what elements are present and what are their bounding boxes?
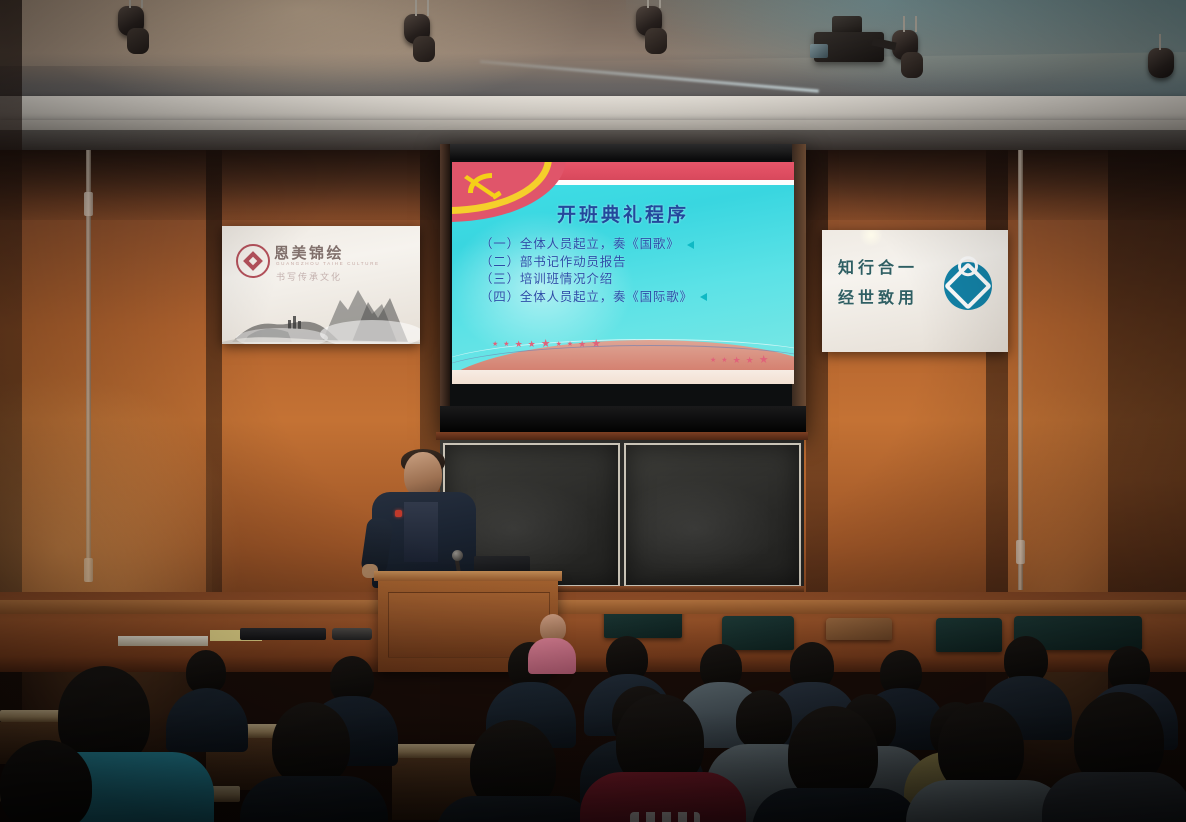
slide-item-index: （三） xyxy=(480,272,520,286)
presenter-shirt xyxy=(404,502,438,562)
audience xyxy=(0,636,1186,822)
speaker-icon xyxy=(687,241,694,249)
banner-subheading-en: GUANGZHOU TAIHE CULTURE xyxy=(276,261,380,266)
stage-rail xyxy=(0,600,1186,614)
screen-top-bar xyxy=(440,144,806,160)
slide-item-index: （一） xyxy=(480,237,520,251)
institution-logo-icon xyxy=(944,262,992,310)
ceiling-projector xyxy=(806,22,898,68)
slide-list-item: （二）部书记作动员报告 xyxy=(480,254,780,272)
shirt-graphic xyxy=(630,812,700,822)
speaker-icon xyxy=(700,293,707,301)
audience-torso-front xyxy=(1042,772,1186,822)
presenter-badge xyxy=(395,510,402,517)
ink-landscape-banner: 恩美锦绘 GUANGZHOU TAIHE CULTURE 书写传承文化 xyxy=(222,226,420,344)
motto-line-1: 知行合一 xyxy=(838,254,918,284)
microphone-head xyxy=(452,550,463,561)
slide-list-item: （四）全体人员起立，奏《国际歌》 xyxy=(480,289,780,307)
slide-bottom-band xyxy=(452,370,794,384)
hammer-and-sickle-emblem xyxy=(462,166,504,200)
slide-item-text: 培训班情况介绍 xyxy=(520,272,613,286)
track-spotlight xyxy=(1148,48,1174,78)
seated-person-torso xyxy=(528,638,576,674)
track-spotlight xyxy=(404,14,435,62)
motto-line-2: 经世致用 xyxy=(838,284,918,314)
slide-star-row: ★★★★★★★★★ xyxy=(492,341,601,348)
screen-left-edge xyxy=(440,144,450,434)
motto-text: 知行合一 经世致用 xyxy=(838,254,918,314)
slide-item-text: 部书记作动员报告 xyxy=(520,255,626,269)
screen-bottom-shadow xyxy=(440,406,806,434)
blackboard-top-ledge xyxy=(436,432,808,440)
slide-item-index: （四） xyxy=(480,290,520,304)
audience-torso-front xyxy=(240,776,388,822)
red-seal-icon xyxy=(236,244,270,278)
wall-metal-strip xyxy=(86,150,91,570)
audience-head xyxy=(736,690,792,750)
track-spotlight xyxy=(118,6,149,54)
slide-list-item: （三）培训班情况介绍 xyxy=(480,271,780,289)
audience-torso xyxy=(166,688,248,752)
presentation-slide: 开班典礼程序 （一）全体人员起立，奏《国歌》 （二）部书记作动员报告 （三）培训… xyxy=(452,162,794,384)
audience-torso-front xyxy=(436,796,596,822)
blackboard-panel-right xyxy=(624,443,801,587)
screen-right-edge xyxy=(792,144,806,434)
presenter-at-podium xyxy=(368,452,478,584)
banner-light-glare xyxy=(858,230,884,246)
slide-item-index: （二） xyxy=(480,255,520,269)
audience-torso-front xyxy=(752,788,920,822)
slide-item-text: 全体人员起立，奏《国际歌》 xyxy=(520,290,693,304)
slide-star-row: ★★★★★ xyxy=(710,357,769,364)
audience-head-front xyxy=(272,702,350,786)
podium-top xyxy=(374,571,562,581)
projector-lens xyxy=(810,44,828,58)
audience-head-front xyxy=(0,740,92,822)
motto-banner: 知行合一 经世致用 xyxy=(822,230,1008,352)
banner-heading: 恩美锦绘 xyxy=(274,242,344,263)
wall-metal-strip xyxy=(1018,150,1023,590)
lecture-hall-photo: 开班典礼程序 （一）全体人员起立，奏《国歌》 （二）部书记作动员报告 （三）培训… xyxy=(0,0,1186,822)
track-spotlight xyxy=(636,6,667,54)
slide-item-list: （一）全体人员起立，奏《国歌》 （二）部书记作动员报告 （三）培训班情况介绍 （… xyxy=(480,236,780,306)
banner-subheading: 书写传承文化 xyxy=(276,270,342,283)
slide-item-text: 全体人员起立，奏《国歌》 xyxy=(520,237,680,251)
projection-screen[interactable]: 开班典礼程序 （一）全体人员起立，奏《国歌》 （二）部书记作动员报告 （三）培训… xyxy=(440,144,806,434)
slide-list-item: （一）全体人员起立，奏《国歌》 xyxy=(480,236,780,254)
slide-title: 开班典礼程序 xyxy=(452,200,794,227)
